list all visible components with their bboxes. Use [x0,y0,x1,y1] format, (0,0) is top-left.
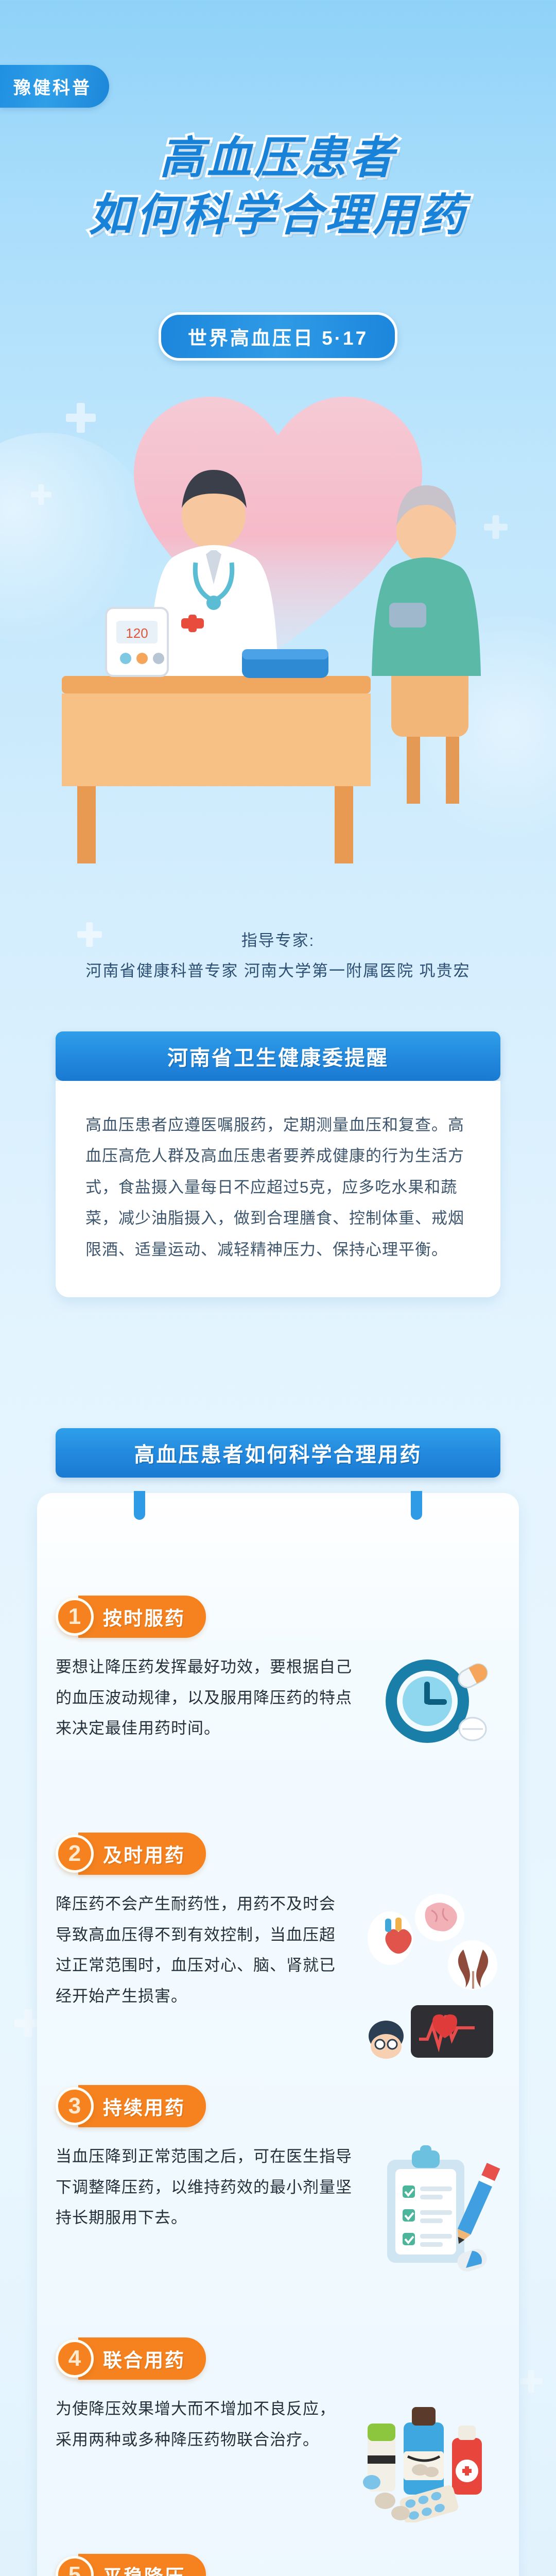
expert-credits: 指导专家: 河南省健康科普专家 河南大学第一附属医院 巩贵宏 [0,927,556,981]
guide-item-4-number: 4 [56,2340,94,2378]
guide-item-2-title: 及时用药 [78,1833,206,1875]
brand-tag: 豫健科普 [0,65,109,108]
guide-item-1-title: 按时服药 [78,1596,206,1638]
expert-credits-label: 指导专家: [0,927,556,951]
guide-item-4-title: 联合用药 [78,2337,206,2380]
guide-item-4-head: 4 联合用药 [56,2339,500,2378]
section2-header-bar: 高血压患者如何科学合理用药 [56,1428,500,1478]
reminder-header-label: 河南省卫生健康委提醒 [167,1041,389,1071]
page-title: 高血压患者 如何科学合理用药 [0,131,556,243]
guide-item-1-head: 1 按时服药 [56,1597,500,1636]
guide-item-4-text: 为使降压效果增大而不增加不良反应，采用两种或多种降压药物联合治疗。 [56,2394,345,2455]
guide-item-2-text: 降压药不会产生耐药性，用药不及时会导致高血压得不到有效控制，当血压超过正常范围时… [56,1889,350,2011]
svg-text:120: 120 [126,625,148,641]
page-title-line-1: 高血压患者 [0,131,556,185]
guide-item-3-text: 当血压降到正常范围之后，可在医生指导下调整降压药，以维持药效的最小剂量坚持长期服… [56,2141,355,2233]
reminder-card-text: 高血压患者应遵医嘱服药，定期测量血压和复查。高血压高危人群及高血压患者要养成健康… [85,1110,471,1265]
medicine-bottles-icon [356,2394,500,2522]
guide-item-5-head: 5 平稳降压 [56,2555,500,2576]
guide-item-2-number: 2 [56,1835,94,1873]
guide-item-1-body: 要想让降压药发挥最好功效，要根据自己的血压波动规律，以及服用降压药的特点来决定最… [56,1652,500,1760]
page-title-line-2: 如何科学合理用药 [0,189,556,243]
guide-item-4-body: 为使降压效果增大而不增加不良反应，采用两种或多种降压药物联合治疗。 [56,2394,500,2522]
section2-header-label: 高血压患者如何科学合理用药 [134,1438,422,1468]
panel-hanger-right [411,1491,422,1520]
hero-illustration: 120 [0,361,556,917]
guide-item-3-body: 当血压降到正常范围之后，可在医生指导下调整降压药，以维持药效的最小剂量坚持长期服… [56,2141,500,2280]
subtitle-badge-label: 世界高血压日 5·17 [159,312,397,361]
organs-heart-brain-kidney-icon [361,1889,500,2059]
guide-item-3-title: 持续用药 [78,2085,206,2127]
guide-item-1[interactable]: 1 按时服药 要想让降压药发挥最好功效，要根据自己的血压波动规律，以及服用降压药… [56,1597,500,1760]
guide-item-3-head: 3 持续用药 [56,2087,500,2126]
brand-tag-label: 豫健科普 [0,65,109,108]
pill-clock-icon [372,1652,500,1760]
guide-item-5-title: 平稳降压 [78,2554,206,2576]
reminder-header-bar: 河南省卫生健康委提醒 [56,1031,500,1081]
subtitle-badge: 世界高血压日 5·17 [0,312,556,361]
guide-item-2-body: 降压药不会产生耐药性，用药不及时会导致高血压得不到有效控制，当血压超过正常范围时… [56,1889,500,2059]
reminder-card: 高血压患者应遵医嘱服药，定期测量血压和复查。高血压高危人群及高血压患者要养成健康… [56,1081,500,1297]
guide-item-2[interactable]: 2 及时用药 降压药不会产生耐药性，用药不及时会导致高血压得不到有效控制，当血压… [56,1834,500,2059]
decor-cross-icon-6 [520,2370,543,2393]
guide-item-5[interactable]: 5 平稳降压 降压治疗要掌握缓慢、平稳的原则，4～12周达到目标值。 [56,2555,500,2576]
guide-item-2-head: 2 及时用药 [56,1834,500,1873]
guide-item-4[interactable]: 4 联合用药 为使降压效果增大而不增加不良反应，采用两种或多种降压药物联合治疗。 [56,2339,500,2522]
clipboard-checklist-icon [367,2141,500,2280]
guide-item-1-number: 1 [56,1598,94,1636]
panel-hanger-left [134,1491,145,1520]
panel-hangers [37,1491,519,1522]
doctor-patient-scene: 120 [0,361,556,917]
expert-credits-names: 河南省健康科普专家 河南大学第一附属医院 巩贵宏 [0,958,556,981]
guide-item-3-number: 3 [56,2087,94,2125]
guide-item-3[interactable]: 3 持续用药 当血压降到正常范围之后，可在医生指导下调整降压药，以维持药效的最小… [56,2087,500,2280]
guide-item-1-text: 要想让降压药发挥最好功效，要根据自己的血压波动规律，以及服用降压药的特点来决定最… [56,1652,360,1744]
